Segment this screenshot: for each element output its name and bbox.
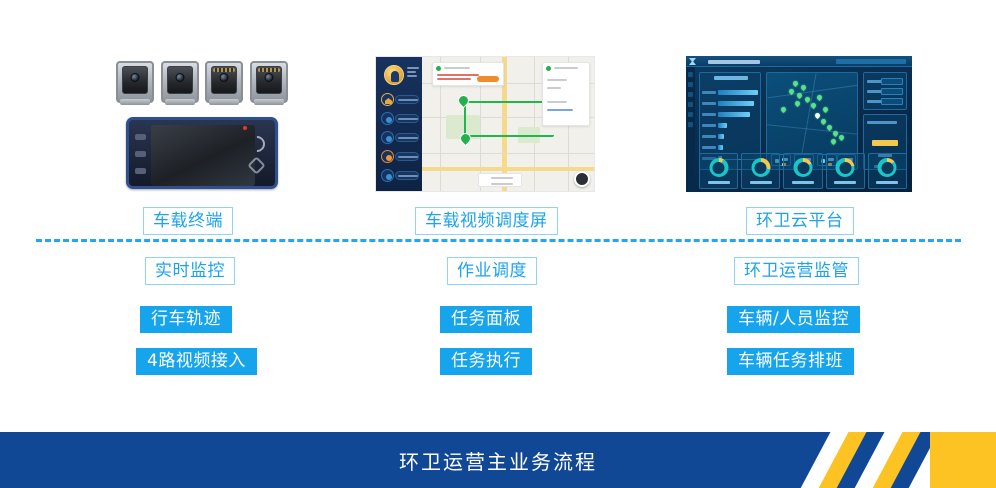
alert-icon (381, 131, 394, 144)
logo-icon (689, 58, 696, 65)
map-legend (478, 173, 522, 187)
camera-icon (161, 59, 199, 105)
tablet-terminal-icon (126, 117, 278, 189)
gauge-ring-icon (783, 153, 822, 189)
gauge-ring-icon (741, 153, 780, 189)
history-icon (381, 112, 394, 125)
banner-stripe-decoration (786, 432, 996, 488)
gauge-ring-icon (826, 153, 865, 189)
task-icon (381, 150, 394, 163)
gauge-ring-icon (699, 153, 738, 189)
dashboard-left-rail[interactable] (686, 67, 695, 192)
dashboard-topbar-right (836, 59, 906, 64)
map-canvas[interactable] (422, 57, 594, 191)
section-divider (36, 239, 961, 242)
feature-driving-track[interactable]: 行车轨迹 (140, 306, 232, 333)
dashboard-topbar (686, 56, 912, 67)
vehicle-video-dispatch-map-screen (375, 56, 595, 192)
gauge-strip (699, 153, 907, 189)
column-header-cloud-platform[interactable]: 环卫云平台 (746, 207, 854, 235)
sidebar-item-home[interactable] (381, 93, 419, 106)
sanitation-cloud-platform-dashboard (686, 56, 912, 192)
camera-icon (116, 59, 154, 105)
feature-task-execution[interactable]: 任务执行 (440, 348, 532, 375)
compass-icon[interactable] (574, 171, 590, 187)
banner-yellow-block (930, 432, 996, 488)
column-subtitle-realtime-monitoring[interactable]: 实时监控 (145, 257, 235, 285)
map-pin-icon[interactable] (458, 95, 469, 108)
dashboard-title-bar (708, 60, 760, 64)
column-subtitle-sanitation-supervision[interactable]: 环卫运营监管 (734, 257, 859, 285)
camera-icon (250, 59, 288, 105)
camera-group (116, 59, 288, 107)
map-pin-icon[interactable] (460, 133, 471, 146)
sidebar-item-tasks[interactable] (381, 150, 419, 163)
status-summary-panel (863, 72, 907, 110)
sidebar-item-settings[interactable] (381, 169, 419, 182)
feature-4ch-video-access[interactable]: 4路视频接入 (136, 348, 257, 375)
bottom-banner: 环卫运营主业务流程 (0, 432, 996, 488)
user-avatar-icon (384, 65, 404, 85)
slide-root: 车载终端 车载视频调度屏 环卫云平台 实时监控 作业调度 环卫运营监管 行车轨迹… (0, 0, 996, 488)
gauge-ring-icon (868, 153, 907, 189)
sidebar-item-alerts[interactable] (381, 131, 419, 144)
home-icon (381, 93, 394, 106)
dispatch-sidebar (376, 57, 422, 191)
column-header-vehicle-terminal[interactable]: 车载终端 (143, 207, 233, 235)
feature-vehicle-task-scheduling[interactable]: 车辆任务排班 (727, 348, 854, 375)
map-info-card[interactable] (432, 62, 504, 86)
feature-vehicle-personnel-monitoring[interactable]: 车辆/人员监控 (727, 306, 860, 333)
camera-icon (205, 59, 243, 105)
map-detail-card[interactable] (542, 62, 590, 126)
route-path (464, 101, 554, 137)
sidebar-item-history[interactable] (381, 112, 419, 125)
vehicle-terminal-hardware-photo (112, 55, 292, 190)
column-header-video-dispatch-screen[interactable]: 车载视频调度屏 (415, 207, 558, 235)
gear-icon (381, 169, 394, 182)
feature-task-panel[interactable]: 任务面板 (440, 306, 532, 333)
column-subtitle-operation-dispatch[interactable]: 作业调度 (447, 257, 537, 285)
